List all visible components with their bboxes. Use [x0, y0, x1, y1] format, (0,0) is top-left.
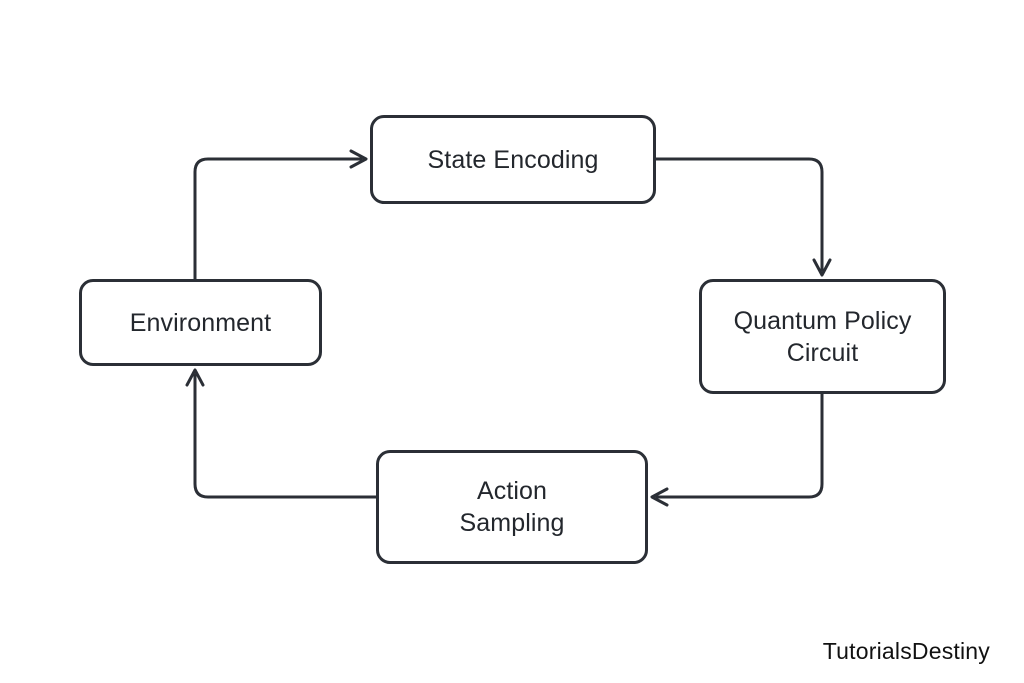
- node-action-sampling-label: Action Sampling: [449, 475, 574, 539]
- edge-action-sampling-to-environment: [187, 370, 376, 497]
- diagram-canvas: State Encoding Quantum Policy Circuit Ac…: [0, 0, 1024, 683]
- edge-state-encoding-to-quantum-policy: [656, 159, 830, 275]
- node-state-encoding[interactable]: State Encoding: [370, 115, 656, 204]
- edge-quantum-policy-to-action-sampling: [652, 394, 822, 505]
- edge-environment-to-state-encoding: [195, 151, 366, 279]
- node-state-encoding-label: State Encoding: [418, 144, 609, 176]
- node-quantum-policy-circuit[interactable]: Quantum Policy Circuit: [699, 279, 946, 394]
- node-environment-label: Environment: [120, 307, 281, 339]
- node-action-sampling[interactable]: Action Sampling: [376, 450, 648, 564]
- watermark-text: TutorialsDestiny: [823, 638, 990, 665]
- node-quantum-policy-circuit-label: Quantum Policy Circuit: [724, 305, 922, 369]
- node-environment[interactable]: Environment: [79, 279, 322, 366]
